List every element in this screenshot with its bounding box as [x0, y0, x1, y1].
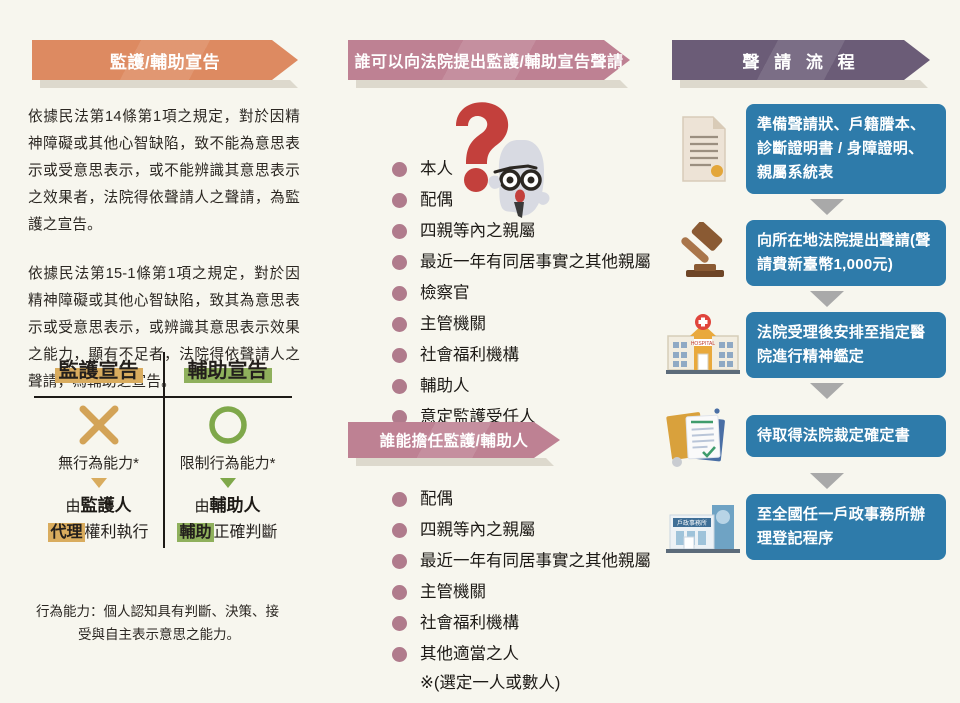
gavel-icon: [660, 222, 746, 284]
flow-step-2-label: 向所在地法院提出聲請(聲請費新臺幣1,000元): [746, 220, 946, 286]
infographic-page: 監護/輔助宣告 依據民法第14條第1項之規定，對於因精神障礙或其他心智缺陷，致不…: [0, 0, 960, 675]
result-highlight-left: 代理: [48, 523, 84, 542]
list-item: 其他適當之人: [392, 643, 692, 665]
flow-step-3-label: 法院受理後安排至指定醫院進行精神鑑定: [746, 312, 946, 378]
banner-guardianship-declaration: 監護/輔助宣告: [32, 40, 298, 80]
bullet-dot-icon: [392, 317, 407, 332]
bullet-dot-icon: [392, 647, 407, 662]
list-item: 配偶: [392, 189, 692, 211]
result-prefix-left: 由: [65, 498, 80, 515]
comparison-title-right: 輔助宣告: [184, 356, 272, 386]
bullet-dot-icon: [392, 616, 407, 631]
circle-mark-icon: [163, 396, 292, 454]
banner-label: 監護/輔助宣告: [110, 48, 220, 73]
result-role-right: 輔助人: [210, 496, 261, 515]
list-item: 最近一年有同居事實之其他親屬: [392, 550, 692, 572]
list-item: 四親等內之親屬: [392, 519, 692, 541]
list-item-label: 輔助人: [420, 375, 470, 397]
flow-step-4-label: 待取得法院裁定確定書: [746, 415, 946, 457]
bullet-dot-icon: [392, 523, 407, 538]
list-item-label: 配偶: [420, 189, 453, 211]
list-item-label: 四親等內之親屬: [420, 519, 536, 541]
banner-who-can-apply: 誰可以向法院提出監護/輔助宣告聲請: [348, 40, 630, 80]
folder-documents-icon: [660, 404, 746, 468]
result-line2-right: 輔助正確判斷: [163, 521, 292, 544]
capacity-label-right: 限制行為能力*: [163, 454, 292, 474]
middle-banner-1-shadow: [356, 80, 628, 88]
list-item-label: 其他適當之人: [420, 643, 519, 665]
flow-step-1: 準備聲請狀、戶籍謄本、診斷證明書 / 身障證明、親屬系統表: [660, 104, 946, 194]
list-item-label: 社會福利機構: [420, 612, 519, 634]
flow-step-5: 戶政事務所 至全國任一戶政事務所辦理登記程序: [660, 494, 946, 560]
flow-arrow-2-icon: [810, 291, 844, 307]
cross-mark-icon: [34, 396, 163, 454]
banner-application-process: 聲 請 流 程: [672, 40, 930, 80]
guardians-note: ※(選定一人或數人): [420, 672, 692, 694]
result-role-left: 監護人: [81, 496, 132, 515]
list-item: 配偶: [392, 488, 692, 510]
banner-label: 誰能擔任監護/輔助人: [380, 429, 529, 451]
result-line1-right: 由輔助人: [163, 494, 292, 519]
application-flow: 準備聲請狀、戶籍謄本、診斷證明書 / 身障證明、親屬系統表 向所在地法院提出聲請…: [660, 104, 946, 560]
bullet-dot-icon: [392, 162, 407, 177]
flow-step-3: HOSPITAL 法院受理後安排至指定醫院進行精神鑑定: [660, 312, 946, 378]
list-item: 社會福利機構: [392, 344, 692, 366]
comparison-column-guardianship: 監護宣告 無行為能力* 由監護人 代理權利執行: [34, 352, 163, 544]
middle-banner-2-shadow: [356, 458, 554, 466]
result-rest-left: 權利執行: [85, 524, 149, 541]
flow-arrow-1-icon: [810, 199, 844, 215]
household-registration-office-icon: 戶政事務所: [660, 499, 746, 555]
list-item-label: 四親等內之親屬: [420, 220, 536, 242]
list-item: 主管機關: [392, 581, 692, 603]
banner-label: 聲 請 流 程: [742, 48, 859, 73]
list-item: 社會福利機構: [392, 612, 692, 634]
result-line1-left: 由監護人: [34, 494, 163, 519]
guardians-list: 配偶 四親等內之親屬 最近一年有同居事實之其他親屬 主管機關 社會福利機構 其他…: [352, 488, 692, 703]
result-rest-right: 正確判斷: [214, 524, 278, 541]
document-certificate-icon: [660, 113, 746, 185]
down-triangle-green-icon: [220, 478, 236, 488]
comparison-title-right-label: 輔助宣告: [188, 360, 268, 382]
list-item: 檢察官: [392, 282, 692, 304]
comparison-table: 監護宣告 無行為能力* 由監護人 代理權利執行 輔助宣告: [34, 352, 292, 562]
list-item: 最近一年有同居事實之其他親屬: [392, 251, 692, 273]
comparison-title-left: 監護宣告: [55, 356, 143, 386]
flow-arrow-4-icon: [810, 473, 844, 489]
list-item-label: 配偶: [420, 488, 453, 510]
footnote-capacity-definition: 行為能力：個人認知具有判斷、決策、接 受與自主表示意思之能力。: [36, 600, 292, 646]
left-banner-shadow: [40, 80, 298, 88]
comparison-title-left-label: 監護宣告: [59, 360, 139, 382]
bullet-dot-icon: [392, 348, 407, 363]
bullet-dot-icon: [392, 255, 407, 270]
flow-step-2: 向所在地法院提出聲請(聲請費新臺幣1,000元): [660, 220, 946, 286]
list-item: 輔助人: [392, 375, 692, 397]
bullet-dot-icon: [392, 193, 407, 208]
bullet-dot-icon: [392, 554, 407, 569]
list-item: 四親等內之親屬: [392, 220, 692, 242]
flow-step-5-label: 至全國任一戶政事務所辦理登記程序: [746, 494, 946, 560]
hospital-icon: HOSPITAL: [660, 314, 746, 376]
bullet-dot-icon: [392, 286, 407, 301]
banner-who-can-serve: 誰能擔任監護/輔助人: [348, 422, 560, 458]
down-triangle-gold-icon: [91, 478, 107, 488]
bullet-dot-icon: [392, 585, 407, 600]
capacity-label-left: 無行為能力*: [34, 454, 163, 474]
svg-text:HOSPITAL: HOSPITAL: [691, 341, 716, 347]
paragraph-civil-code-14: 依據民法第14條第1項之規定，對於因精神障礙或其他心智缺陷，致不能為意思表示或受…: [28, 104, 300, 239]
flow-step-4: 待取得法院裁定確定書: [660, 404, 946, 468]
result-highlight-right: 輔助: [177, 523, 213, 542]
bullet-dot-icon: [392, 224, 407, 239]
list-item-label: 本人: [420, 158, 453, 180]
list-item: 本人: [392, 158, 692, 180]
svg-text:戶政事務所: 戶政事務所: [677, 519, 707, 527]
list-item-label: 主管機關: [420, 581, 486, 603]
list-item-label: 社會福利機構: [420, 344, 519, 366]
list-item: 主管機關: [392, 313, 692, 335]
applicants-list: 本人 配偶 四親等內之親屬 最近一年有同居事實之其他親屬 檢察官 主管機關 社會…: [352, 158, 692, 468]
footnote-line-1: 行為能力：個人認知具有判斷、決策、接: [36, 604, 279, 619]
list-item-label: 最近一年有同居事實之其他親屬: [420, 550, 651, 572]
footnote-line-2: 受與自主表示意思之能力。: [36, 623, 292, 646]
list-item-label: 主管機關: [420, 313, 486, 335]
result-prefix-right: 由: [194, 498, 209, 515]
banner-label: 誰可以向法院提出監護/輔助宣告聲請: [355, 48, 624, 72]
flow-step-1-label: 準備聲請狀、戶籍謄本、診斷證明書 / 身障證明、親屬系統表: [746, 104, 946, 194]
list-item-label: 最近一年有同居事實之其他親屬: [420, 251, 651, 273]
bullet-dot-icon: [392, 492, 407, 507]
comparison-column-assistance: 輔助宣告 限制行為能力* 由輔助人 輔助正確判斷: [163, 352, 292, 544]
right-banner-shadow: [680, 80, 928, 88]
flow-arrow-3-icon: [810, 383, 844, 399]
list-item-label: 檢察官: [420, 282, 470, 304]
bullet-dot-icon: [392, 379, 407, 394]
result-line2-left: 代理權利執行: [34, 521, 163, 544]
